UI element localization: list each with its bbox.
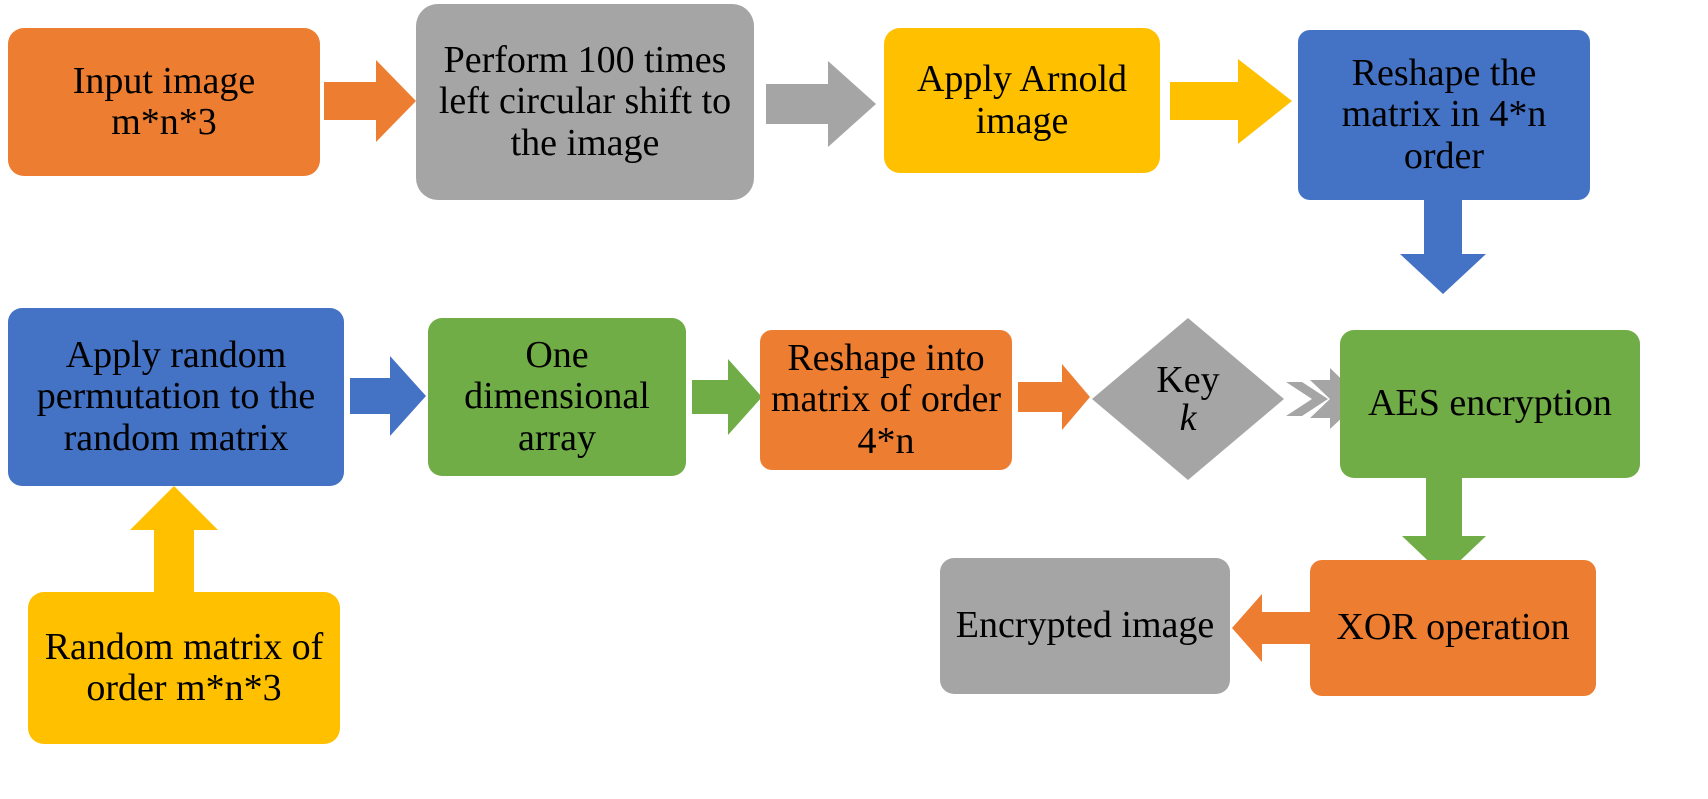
arrow-array-to-reshape-matrix: [692, 356, 762, 438]
node-input-image: Input image m*n*3: [8, 28, 320, 176]
arrow-arnold-to-reshape: [1170, 56, 1292, 146]
node-circular-shift-label: Perform 100 times left circular shift to…: [424, 40, 746, 163]
node-apply-permutation-label: Apply random permutation to the random m…: [16, 335, 336, 458]
node-aes-encryption: AES encryption: [1340, 330, 1640, 478]
node-circular-shift: Perform 100 times left circular shift to…: [416, 4, 754, 200]
node-input-image-label: Input image m*n*3: [16, 61, 312, 143]
arrow-shift-to-arnold: [766, 58, 876, 150]
arrow-random-matrix-to-permutation: [128, 486, 220, 592]
node-apply-arnold-label: Apply Arnold image: [892, 59, 1152, 141]
node-encrypted-image: Encrypted image: [940, 558, 1230, 694]
node-xor-operation: XOR operation: [1310, 560, 1596, 696]
node-one-dim-array-label: One dimensional array: [436, 335, 678, 458]
flowchart-canvas: Input image m*n*3 Perform 100 times left…: [0, 0, 1708, 799]
node-apply-permutation: Apply random permutation to the random m…: [8, 308, 344, 486]
arrow-xor-to-encrypted: [1232, 592, 1310, 664]
node-reshape-matrix-4n: Reshape into matrix of order 4*n: [760, 330, 1012, 470]
arrow-input-to-shift: [324, 56, 416, 146]
node-aes-encryption-label: AES encryption: [1348, 383, 1632, 424]
arrow-permutation-to-array: [350, 352, 426, 440]
node-apply-arnold: Apply Arnold image: [884, 28, 1160, 173]
node-key-label-line1: Key: [1156, 361, 1219, 399]
node-reshape-matrix-4n-label: Reshape into matrix of order 4*n: [768, 338, 1004, 461]
node-key-label-line2: k: [1180, 399, 1197, 437]
node-key-label-group: Key k: [1092, 318, 1284, 480]
node-reshape-4n: Reshape the matrix in 4*n order: [1298, 30, 1590, 200]
node-random-matrix-label: Random matrix of order m*n*3: [36, 627, 332, 709]
arrow-reshape-matrix-to-key: [1018, 362, 1090, 432]
node-random-matrix: Random matrix of order m*n*3: [28, 592, 340, 744]
arrow-reshape-to-aes: [1398, 200, 1488, 294]
node-xor-operation-label: XOR operation: [1318, 607, 1588, 648]
node-key-diamond: Key k: [1092, 318, 1284, 480]
node-reshape-4n-label: Reshape the matrix in 4*n order: [1306, 53, 1582, 176]
node-one-dim-array: One dimensional array: [428, 318, 686, 476]
node-encrypted-image-label: Encrypted image: [948, 605, 1222, 646]
